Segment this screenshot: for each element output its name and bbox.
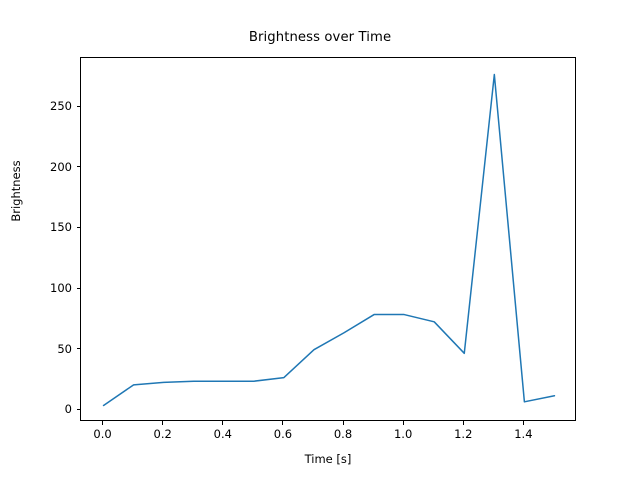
y-tick-label: 0 <box>65 402 72 416</box>
x-tick-mark <box>523 421 524 425</box>
chart-figure: Brightness over Time 050100150200250 0.0… <box>0 0 640 480</box>
x-tick-mark <box>162 421 163 425</box>
y-tick-label: 50 <box>57 342 72 356</box>
x-tick-mark <box>282 421 283 425</box>
x-tick-label: 0.6 <box>274 427 292 441</box>
line-series-svg <box>81 58 577 422</box>
x-axis-tick-labels: 0.00.20.40.60.81.01.21.4 <box>0 427 640 443</box>
x-tick-label: 0.2 <box>154 427 172 441</box>
x-tick-label: 1.4 <box>514 427 532 441</box>
y-tick-label: 150 <box>50 220 72 234</box>
y-tick-label: 250 <box>50 99 72 113</box>
brightness-line <box>104 75 555 406</box>
x-tick-label: 0.4 <box>214 427 232 441</box>
x-tick-label: 0.8 <box>334 427 352 441</box>
plot-area <box>80 57 576 421</box>
x-tick-mark <box>463 421 464 425</box>
x-tick-mark <box>222 421 223 425</box>
x-tick-mark <box>403 421 404 425</box>
y-axis-label: Brightness <box>9 91 23 291</box>
x-tick-mark <box>102 421 103 425</box>
x-tick-label: 0.0 <box>93 427 111 441</box>
y-tick-label: 100 <box>50 281 72 295</box>
chart-title: Brightness over Time <box>0 30 640 45</box>
x-tick-label: 1.2 <box>454 427 472 441</box>
x-tick-label: 1.0 <box>394 427 412 441</box>
y-tick-label: 200 <box>50 160 72 174</box>
x-tick-mark <box>343 421 344 425</box>
x-axis-label: Time [s] <box>80 452 576 466</box>
